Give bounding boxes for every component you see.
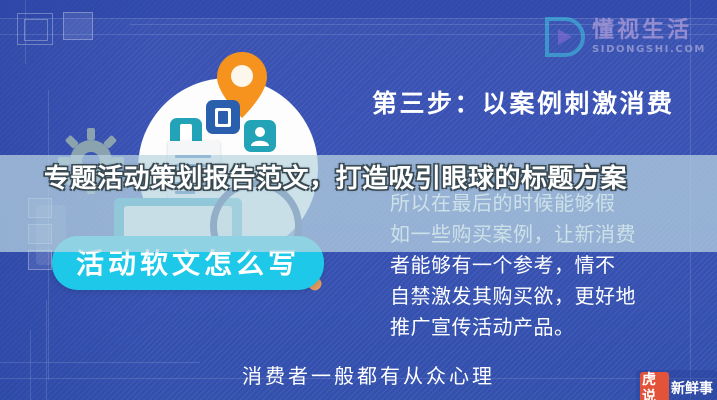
chip-icon bbox=[206, 100, 240, 134]
guide-line-vertical-bottom2 bbox=[46, 300, 47, 400]
corner-badge-mark: 虎说 bbox=[640, 372, 669, 400]
watermark-text: 懂视生活 SIDONGSHI.COM bbox=[592, 20, 706, 55]
body-line: 自禁激发其购买欲，更好地 bbox=[390, 281, 690, 312]
footer-caption: 消费者一般都有从众心理 bbox=[242, 360, 495, 389]
watermark: 懂视生活 SIDONGSHI.COM bbox=[543, 16, 706, 58]
guide-line-vertical-bottom bbox=[30, 330, 31, 400]
step-heading: 第三步：以案例刺激消费 bbox=[372, 84, 675, 120]
user-card-icon bbox=[244, 120, 276, 152]
watermark-brand: 懂视生活 bbox=[592, 20, 706, 42]
slide-image: 第三步：以案例刺激消费 所以在最后的时候能够假 如一些购买案例，让新消费 者能够… bbox=[0, 0, 717, 400]
page-title: 专题活动策划报告范文，打造吸引眼球的标题方案 bbox=[0, 160, 717, 198]
corner-badge: 虎说 新鲜事 bbox=[636, 370, 717, 400]
play-triangle-icon bbox=[543, 16, 585, 58]
guide-line-horizontal-bottom bbox=[0, 362, 200, 363]
body-line: 者能够有一个参考，情不 bbox=[390, 250, 690, 281]
corner-badge-label: 新鲜事 bbox=[671, 381, 713, 398]
watermark-url: SIDONGSHI.COM bbox=[592, 45, 706, 55]
body-line: 推广宣传活动产品。 bbox=[390, 312, 690, 343]
